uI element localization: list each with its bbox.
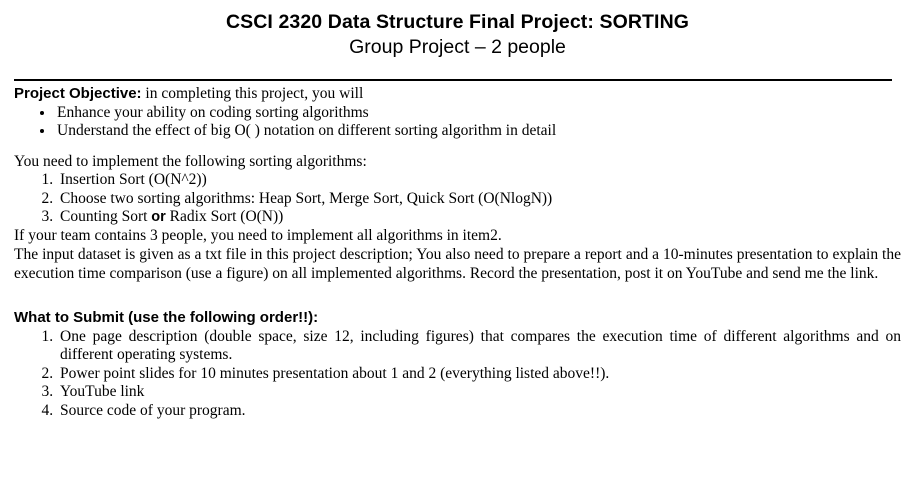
objective-heading: Project Objective: xyxy=(14,85,142,102)
objective-bullet-list: Enhance your ability on coding sorting a… xyxy=(14,104,901,141)
objective-intro-line: Project Objective: in completing this pr… xyxy=(14,85,901,104)
list-item: YouTube link xyxy=(57,383,901,402)
implement-note: If your team contains 3 people, you need… xyxy=(14,227,901,246)
list-item: Source code of your program. xyxy=(57,402,901,421)
list-item-emphasis: or xyxy=(151,209,166,225)
document-body: Project Objective: in completing this pr… xyxy=(0,85,915,420)
spacer xyxy=(14,141,901,153)
list-item: Power point slides for 10 minutes presen… xyxy=(57,365,901,384)
dataset-paragraph: The input dataset is given as a txt file… xyxy=(14,246,901,283)
submit-heading-line: What to Submit (use the following order!… xyxy=(14,309,901,328)
document-page: CSCI 2320 Data Structure Final Project: … xyxy=(0,0,915,483)
page-title: CSCI 2320 Data Structure Final Project: … xyxy=(0,10,915,34)
submit-heading: What to Submit (use the following order!… xyxy=(14,309,318,326)
list-item: Choose two sorting algorithms: Heap Sort… xyxy=(57,190,901,209)
list-item-text: Insertion Sort (O(N^2)) xyxy=(60,171,207,188)
list-item-text: Choose two sorting algorithms: Heap Sort… xyxy=(60,190,552,207)
list-item-text-post: Radix Sort (O(N)) xyxy=(166,208,284,225)
implement-ordered-list: Insertion Sort (O(N^2)) Choose two sorti… xyxy=(14,171,901,227)
header-divider-wrap xyxy=(0,79,915,81)
page-subtitle: Group Project – 2 people xyxy=(0,34,915,60)
objective-lead-text: in completing this project, you will xyxy=(142,85,364,102)
implement-intro: You need to implement the following sort… xyxy=(14,153,901,172)
list-item: Enhance your ability on coding sorting a… xyxy=(55,104,901,123)
list-item: Insertion Sort (O(N^2)) xyxy=(57,171,901,190)
title-block: CSCI 2320 Data Structure Final Project: … xyxy=(0,0,915,60)
spacer xyxy=(14,283,901,309)
list-item: Understand the effect of big O( ) notati… xyxy=(55,122,901,141)
list-item-text-pre: Counting Sort xyxy=(60,208,151,225)
list-item: One page description (double space, size… xyxy=(57,328,901,365)
horizontal-rule xyxy=(14,79,892,81)
list-item: Counting Sort or Radix Sort (O(N)) xyxy=(57,208,901,227)
submit-ordered-list: One page description (double space, size… xyxy=(14,328,901,421)
